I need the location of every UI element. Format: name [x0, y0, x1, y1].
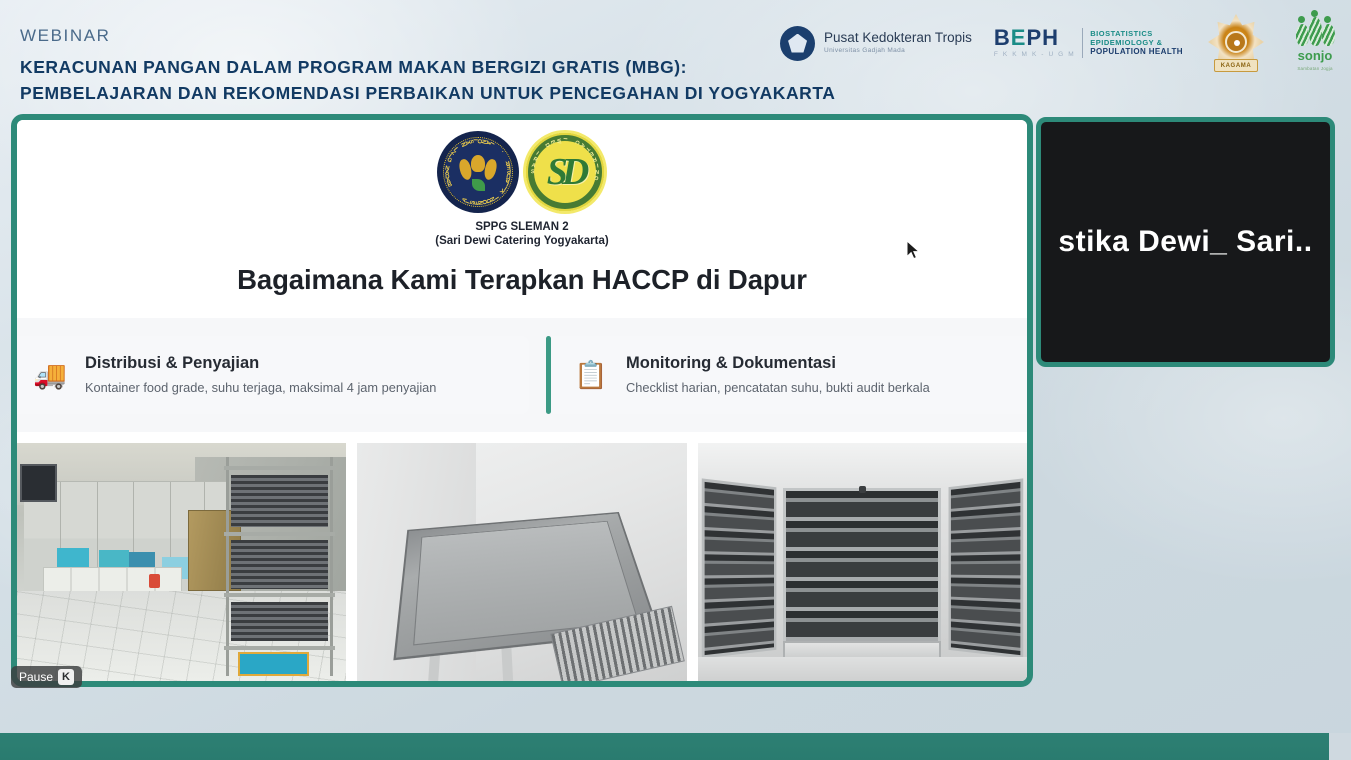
bottom-toolbar-bar [0, 733, 1351, 760]
kagama-core-icon [1225, 31, 1247, 53]
slide-title: Bagaimana Kami Terapkan HACCP di Dapur [17, 264, 1027, 296]
kagama-ribbon-label: KAGAMA [1214, 59, 1258, 72]
beph-desc-line-3: POPULATION HEALTH [1090, 47, 1183, 57]
beph-desc-line-1: BIOSTATISTICS [1090, 29, 1183, 38]
clipboard-icon: 📋 [564, 362, 618, 389]
card-2-heading: Monitoring & Dokumentasi [626, 353, 930, 374]
slide-org-header: BADAN GIZI NASIONAL · REPUBLIK INDONESIA… [17, 130, 1027, 249]
pkt-emblem-icon [780, 26, 815, 61]
slide-card-distribusi-penyajian: 🚚 Distribusi & Penyajian Kontainer food … [17, 336, 529, 414]
pkt-logo-sub: Universitas Gadjah Mada [824, 48, 972, 55]
sppg-caption-line-2: (Sari Dewi Catering Yogyakarta) [435, 235, 608, 249]
beph-divider [1082, 28, 1083, 58]
storage-rack-shape [221, 457, 340, 676]
webinar-header: WEBINAR KERACUNAN PANGAN DALAM PROGRAM M… [0, 0, 1351, 108]
header-title-line-1: KERACUNAN PANGAN DALAM PROGRAM MAKAN BER… [20, 54, 835, 80]
cabinet-door-left-shape [701, 479, 775, 660]
sdc-monogram: SD [547, 150, 584, 194]
beph-logo: BEPH F K K M K - U G M BIOSTATISTICS EPI… [994, 12, 1183, 74]
pkt-logo-name: Pusat Kedokteran Tropis [824, 31, 972, 45]
header-text-block: WEBINAR KERACUNAN PANGAN DALAM PROGRAM M… [20, 26, 835, 106]
header-kicker: WEBINAR [20, 26, 835, 46]
cabinet-shelves-shape [783, 488, 941, 655]
beph-letters: BEPH [994, 27, 1075, 49]
photo-stainless-tray [357, 443, 686, 681]
participant-video-tile[interactable]: stika Dewi_ Sari.. [1036, 117, 1335, 367]
pause-tooltip-label: Pause [19, 670, 53, 684]
photo-kitchen-corridor [17, 443, 346, 681]
shared-screen-frame[interactable]: BADAN GIZI NASIONAL · REPUBLIK INDONESIA… [11, 114, 1033, 687]
bottom-bar-right-gap [1329, 733, 1351, 760]
garuda-bird-icon [460, 153, 496, 191]
meeting-screen-share-view: WEBINAR KERACUNAN PANGAN DALAM PROGRAM M… [0, 0, 1351, 760]
beph-desc-line-2: EPIDEMIOLOGY & [1090, 38, 1183, 47]
sonjo-logo: sonjo Sambatan Jogja [1289, 12, 1341, 74]
sppg-caption-line-1: SPPG SLEMAN 2 [435, 221, 608, 235]
presentation-slide: BADAN GIZI NASIONAL · REPUBLIK INDONESIA… [17, 120, 1027, 681]
participant-name-label: stika Dewi_ Sari.. [1041, 225, 1330, 259]
wall-monitor-shape [20, 464, 56, 502]
delivery-truck-icon: 🚚 [23, 362, 77, 389]
sonjo-logo-name: sonjo [1298, 49, 1333, 62]
kagama-logo: KAGAMA [1205, 12, 1267, 74]
pusat-kedokteran-tropis-logo: Pusat Kedokteran Tropis Universitas Gadj… [780, 12, 972, 74]
slide-card-monitoring-dokumentasi: 📋 Monitoring & Dokumentasi Checklist har… [546, 336, 1027, 414]
sonjo-people-icon [1295, 15, 1335, 47]
badan-gizi-nasional-logo: BADAN GIZI NASIONAL · REPUBLIK INDONESIA [437, 131, 519, 213]
sari-dewi-catering-logo: SARI DEWI CATERING SD [523, 130, 607, 214]
card-2-subtext: Checklist harian, pencatatan suhu, bukti… [626, 380, 930, 397]
card-1-heading: Distribusi & Penyajian [85, 353, 436, 374]
slide-logo-pair: BADAN GIZI NASIONAL · REPUBLIK INDONESIA… [437, 130, 607, 214]
cabinet-door-right-shape [949, 479, 1023, 660]
slide-org-caption: SPPG SLEMAN 2 (Sari Dewi Catering Yogyak… [435, 221, 608, 249]
pause-share-tooltip[interactable]: Pause K [11, 666, 82, 688]
header-logo-row: Pusat Kedokteran Tropis Universitas Gadj… [780, 10, 1341, 76]
header-title-line-2: PEMBELAJARAN DAN REKOMENDASI PERBAIKAN U… [20, 80, 835, 106]
slide-photo-strip [17, 443, 1027, 681]
slide-cards-band: 🚚 Distribusi & Penyajian Kontainer food … [17, 318, 1027, 432]
sonjo-logo-tagline: Sambatan Jogja [1297, 66, 1332, 71]
beph-sub: F K K M K - U G M [994, 52, 1075, 59]
pause-shortcut-key: K [58, 669, 74, 685]
card-1-subtext: Kontainer food grade, suhu terjaga, maks… [85, 380, 436, 397]
photo-stainless-cabinet [698, 443, 1027, 681]
